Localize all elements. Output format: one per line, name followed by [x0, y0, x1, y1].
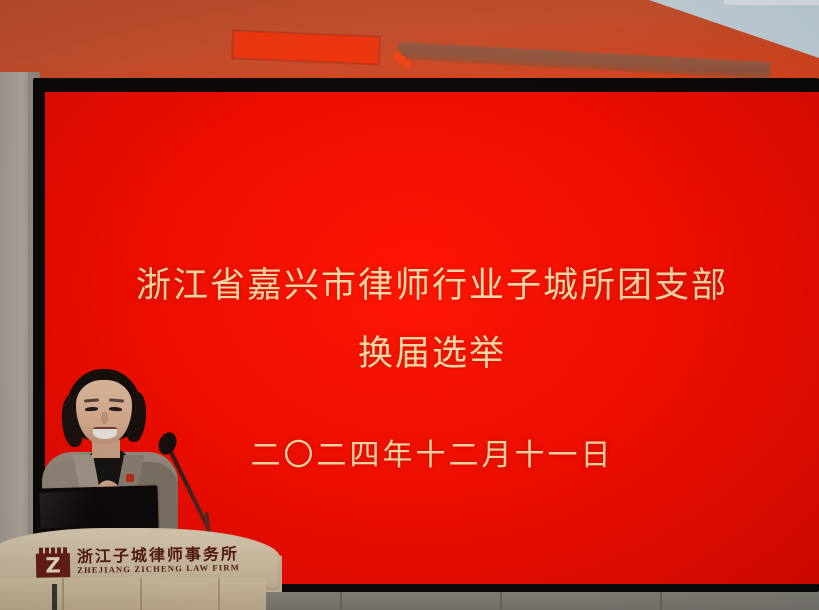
podium-body	[0, 578, 266, 610]
logo-letter-z: Z	[36, 553, 70, 578]
presenter-nose	[101, 412, 108, 424]
law-firm-logo: Z 浙江子城律师事务所 ZHEJIANG ZICHENG LAW FIRM	[36, 544, 240, 578]
podium-seam	[140, 578, 142, 610]
podium-seam	[218, 578, 220, 610]
presenter-mouth	[93, 427, 117, 439]
slide-title-line-1: 浙江省嘉兴市律师行业子城所团支部	[45, 257, 819, 308]
slide-title-line-2: 换届选举	[45, 325, 819, 376]
conference-photo-scene: 浙江省嘉兴市律师行业子城所团支部 换届选举 二〇二四年十二月十一日	[0, 0, 819, 610]
law-firm-name-en: ZHEJIANG ZICHENG LAW FIRM	[77, 564, 240, 576]
presenter-eye-right	[109, 407, 122, 412]
podium-left-post	[52, 584, 57, 610]
law-firm-name-block: 浙江子城律师事务所 ZHEJIANG ZICHENG LAW FIRM	[77, 546, 240, 576]
presenter-badge	[126, 474, 134, 482]
podium-seam	[62, 578, 64, 610]
ceiling-top-sliver	[724, 0, 819, 5]
ceiling-light-panel	[231, 30, 380, 65]
zicheng-city-wall-icon: Z	[36, 547, 71, 578]
laptop-screen	[40, 489, 153, 528]
